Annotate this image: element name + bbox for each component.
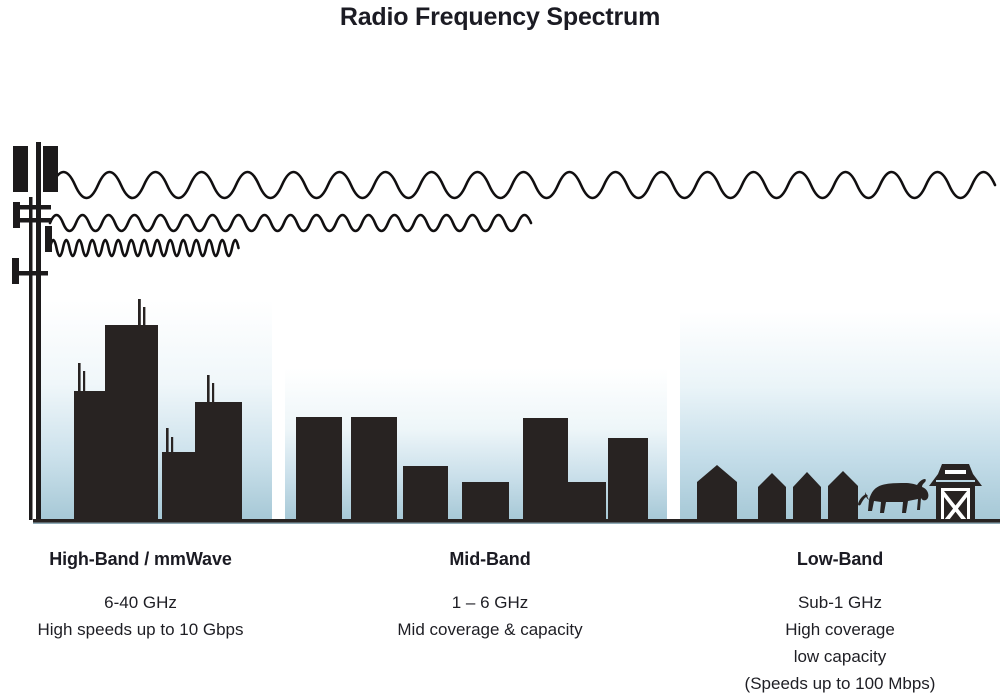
- band-label-low: Low-Band: [680, 549, 1000, 570]
- midband-building-1: [296, 417, 342, 520]
- skyscraper-spire-b1: [138, 299, 141, 325]
- skyscraper-spire-a1: [78, 363, 81, 391]
- skyscraper-medium-right: [195, 402, 242, 520]
- tower-antenna-panel-left: [13, 146, 28, 192]
- midband-building-4: [462, 482, 509, 520]
- band-label-high: High-Band / mmWave: [0, 549, 281, 570]
- wave-medium-icon: [50, 215, 531, 231]
- midband-building-7: [608, 438, 648, 520]
- skyscraper-spire-c2: [171, 437, 173, 452]
- tower-mast-secondary: [29, 197, 33, 520]
- ground-line-shadow: [33, 523, 1000, 525]
- skyscraper-spire-c1: [166, 428, 169, 452]
- band-description-low: Sub-1 GHz High coverage low capacity (Sp…: [680, 589, 1000, 697]
- skyscraper-spire-a2: [83, 371, 85, 391]
- tower-antenna-panel-right: [43, 146, 58, 192]
- skyscraper-medium-left: [74, 391, 105, 520]
- skyscraper-spire-b2: [143, 307, 145, 325]
- midband-building-6: [568, 482, 606, 520]
- band-description-high: 6-40 GHz High speeds up to 10 Gbps: [0, 589, 281, 643]
- skyscraper-tall-center: [105, 325, 158, 520]
- tower-antenna-panel-small-right: [45, 226, 52, 252]
- midband-building-5: [523, 418, 568, 520]
- tower-antenna-panel-small-left: [13, 202, 20, 228]
- wave-long-icon: [52, 172, 995, 198]
- tower-mast: [36, 142, 41, 520]
- tower-crossbar-upper: [19, 205, 51, 210]
- wave-short-icon: [50, 240, 239, 256]
- skyscraper-spire-d1: [207, 375, 210, 402]
- barn-hayloft-window: [945, 470, 966, 474]
- radio-waves: [50, 172, 995, 256]
- tower-crossbar-lower: [18, 271, 48, 276]
- tower-crossbar-upper2: [19, 218, 51, 223]
- midband-building-3: [403, 466, 448, 520]
- tower-antenna-panel-bottom: [12, 258, 19, 284]
- ground-line: [33, 519, 1000, 523]
- band-description-mid: 1 – 6 GHz Mid coverage & capacity: [330, 589, 650, 643]
- band-label-mid: Mid-Band: [330, 549, 650, 570]
- midband-building-2: [351, 417, 397, 520]
- skyscraper-spire-d2: [212, 383, 214, 402]
